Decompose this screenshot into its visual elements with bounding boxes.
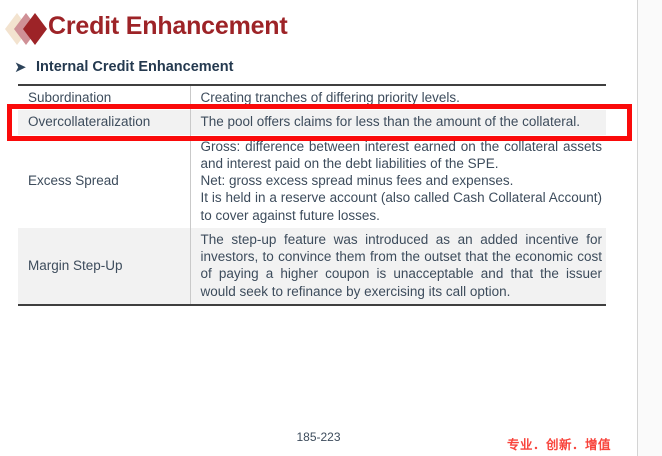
three-diamonds-logo-icon	[4, 12, 48, 46]
table-cell-description: The pool offers claims for less than the…	[190, 110, 606, 134]
table-cell-term: Margin Step-Up	[18, 228, 190, 305]
arrow-bullet-icon: ➤	[14, 60, 36, 75]
description-line: Creating tranches of differing priority …	[201, 89, 603, 106]
table-row: OvercollateralizationThe pool offers cla…	[18, 110, 606, 134]
table-row: SubordinationCreating tranches of differ…	[18, 85, 606, 110]
description-line: It is held in a reserve account (also ca…	[201, 189, 603, 224]
footer-slogan: 专业．创新．增值	[507, 434, 611, 453]
subtitle-label: Internal Credit Enhancement	[36, 59, 233, 75]
subtitle-row: ➤ Internal Credit Enhancement	[0, 56, 637, 78]
slide-canvas: Credit Enhancement ➤ Internal Credit Enh…	[0, 0, 637, 456]
table-cell-description: Creating tranches of differing priority …	[190, 85, 606, 110]
slide-header: Credit Enhancement	[0, 8, 637, 50]
table-cell-term: Subordination	[18, 85, 190, 110]
credit-enhancement-table-wrap: SubordinationCreating tranches of differ…	[18, 84, 606, 306]
page-title: Credit Enhancement	[48, 12, 288, 41]
description-line: The step-up feature was introduced as an…	[201, 231, 603, 300]
description-line: The pool offers claims for less than the…	[201, 113, 603, 130]
description-line: Gross: difference between interest earne…	[201, 138, 603, 173]
description-line: Net: gross excess spread minus fees and …	[201, 172, 603, 189]
table-cell-description: Gross: difference between interest earne…	[190, 135, 606, 228]
table-cell-term: Overcollateralization	[18, 110, 190, 134]
credit-enhancement-table: SubordinationCreating tranches of differ…	[18, 84, 606, 306]
table-cell-term: Excess Spread	[18, 135, 190, 228]
table-cell-description: The step-up feature was introduced as an…	[190, 228, 606, 305]
page-edge-strip	[637, 0, 662, 456]
table-row: Excess SpreadGross: difference between i…	[18, 135, 606, 228]
table-row: Margin Step-UpThe step-up feature was in…	[18, 228, 606, 305]
